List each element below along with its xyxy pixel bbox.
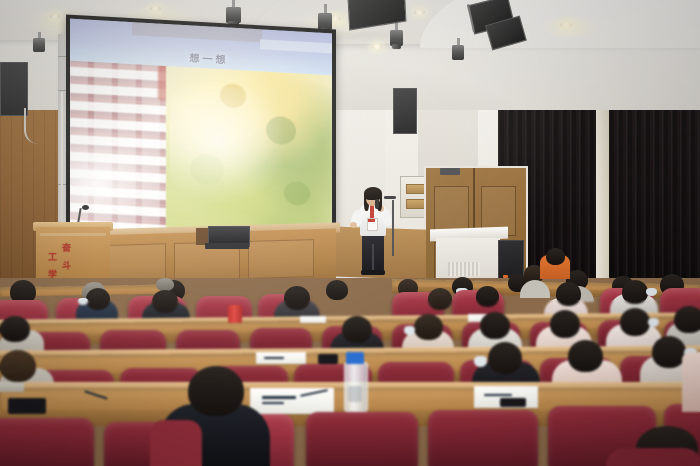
paper[interactable] xyxy=(300,316,326,323)
audience-head xyxy=(188,366,244,416)
notebook[interactable] xyxy=(0,382,24,392)
downlight xyxy=(372,44,382,49)
door-sign xyxy=(440,168,460,175)
audience-head xyxy=(86,288,110,310)
mobile-phone[interactable] xyxy=(8,398,46,414)
seat[interactable] xyxy=(428,410,538,466)
seat[interactable] xyxy=(0,418,94,466)
audience-head xyxy=(620,308,650,336)
downlight xyxy=(50,14,60,19)
audience-head xyxy=(556,282,581,306)
thermos-cup[interactable] xyxy=(228,305,242,323)
audience-head xyxy=(622,280,648,304)
audience-head xyxy=(284,286,310,310)
projection-screen: 想一想 xyxy=(66,14,336,247)
audience-head xyxy=(480,312,510,339)
lecture-hall-photo: 想一想 奋 斗 树 工 学 xyxy=(0,0,700,466)
audience-head xyxy=(0,316,30,342)
audience-head xyxy=(428,288,452,310)
audience-head xyxy=(152,290,178,313)
lanyard xyxy=(370,205,374,219)
audience-head xyxy=(568,340,603,372)
wall-speaker-right xyxy=(393,88,417,134)
mobile-phone[interactable] xyxy=(500,398,526,407)
downlight xyxy=(150,6,161,11)
presenter-shoes xyxy=(361,270,385,275)
seat[interactable] xyxy=(306,412,418,466)
speaker-cable xyxy=(24,108,46,144)
downlight xyxy=(414,10,425,15)
audience-head xyxy=(0,350,36,382)
handheld-microphone xyxy=(375,199,379,209)
audience-head xyxy=(674,306,700,333)
audience-head xyxy=(414,314,443,340)
audience-head xyxy=(652,336,686,368)
audience-head xyxy=(550,310,580,338)
audience-head xyxy=(488,342,522,374)
bottle-cap xyxy=(346,352,364,364)
projected-slide: 想一想 xyxy=(70,19,332,244)
mobile-phone[interactable] xyxy=(318,354,338,364)
audience-head xyxy=(326,280,348,300)
audience-head xyxy=(476,286,499,307)
audience-head xyxy=(546,248,565,265)
audience-head xyxy=(342,316,372,343)
